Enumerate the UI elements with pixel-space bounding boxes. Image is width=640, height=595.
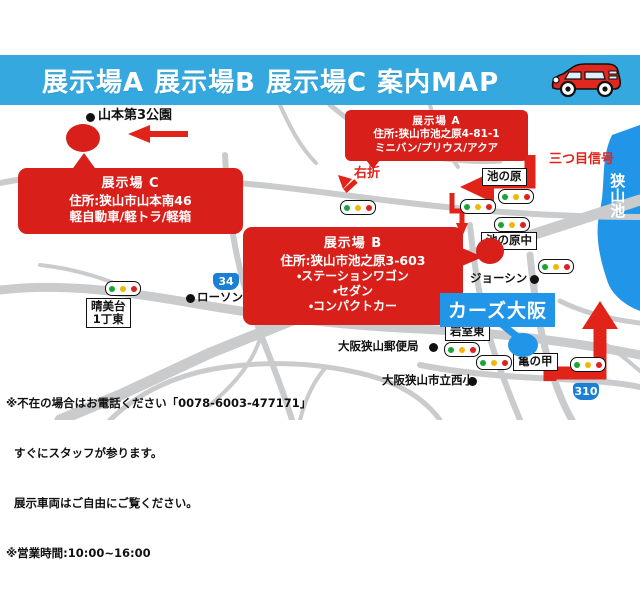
- route-shield-34: 34: [213, 273, 239, 290]
- label-ikenohara: 池の原: [482, 168, 527, 186]
- traffic-signal-ikenohara: [498, 189, 534, 204]
- label-yamamoto-park: 山本第3公園: [98, 109, 172, 124]
- label-harumidai-1chome-higashi: 晴美台 1丁東: [86, 298, 131, 328]
- label-third-signal: 三つ目信号: [549, 153, 614, 168]
- flyer-canvas: 展示場A 展示場B 展示場C 案内MAP: [0, 0, 640, 480]
- callout-a-tail: [362, 155, 384, 169]
- traffic-signal-kamenoko: [570, 357, 606, 372]
- callout-b-item-2: ・セダン: [249, 284, 457, 299]
- shop-map-dot: [508, 333, 538, 357]
- callout-b-title: 展示場 B: [249, 236, 457, 253]
- marker-post-office-dot: [429, 343, 438, 352]
- marker-lawson-dot: [186, 294, 195, 303]
- label-sayama-ike: 狭山池: [608, 173, 625, 218]
- route-shield-310: 310: [573, 383, 599, 400]
- callout-c-title: 展示場 C: [24, 176, 237, 193]
- callout-c-vehicles: 軽自動車/軽トラ/軽箱: [24, 209, 237, 225]
- callout-b-address: 住所:狭山市池之原3-603: [249, 253, 457, 269]
- traffic-signal-ikenohara-naka: [494, 217, 530, 232]
- marker-park-dot: [86, 113, 95, 122]
- callout-c-address: 住所:狭山市山本南46: [24, 193, 237, 209]
- note-line-1: ※不在の場合はお電話ください「0078-6003-477171」: [6, 395, 311, 412]
- shop-name-tag[interactable]: カーズ大阪: [440, 293, 555, 327]
- label-turn-right: 右折: [354, 167, 380, 182]
- callout-a-address: 住所:狭山市池之原4-81-1: [351, 128, 522, 141]
- traffic-signal-post-office: [444, 342, 480, 357]
- callout-c-map-dot: [66, 124, 100, 152]
- traffic-signal-harumidai: [105, 281, 141, 296]
- traffic-signal-turn-right: [340, 200, 376, 215]
- callout-a-title: 展示場 A: [351, 115, 522, 128]
- callout-showroom-a[interactable]: 展示場 A 住所:狭山市池之原4-81-1 ミニバン/プリウス/アクア: [345, 110, 528, 161]
- marker-joshin-dot: [530, 275, 539, 284]
- label-joshin: ジョーシン: [470, 272, 527, 285]
- page-title: 展示場A 展示場B 展示場C 案内MAP: [42, 62, 499, 99]
- callout-b-item-1: ・ステーションワゴン: [249, 269, 457, 284]
- footer-note: ※不在の場合はお電話ください「0078-6003-477171」 すぐにスタッフ…: [6, 362, 311, 595]
- traffic-signal-iwamuro: [476, 355, 512, 370]
- red-car-icon: [543, 58, 629, 102]
- note-line-2: すぐにスタッフが参ります。: [6, 445, 311, 462]
- callout-showroom-c[interactable]: 展示場 C 住所:狭山市山本南46 軽自動車/軽トラ/軽箱: [18, 168, 243, 234]
- callout-a-vehicles: ミニバン/プリウス/アクア: [351, 142, 522, 155]
- label-post-office: 大阪狭山郵便局: [338, 340, 419, 353]
- label-lawson: ローソン: [197, 291, 243, 304]
- label-nishi-elementary: 大阪狭山市立西小: [382, 374, 474, 387]
- callout-showroom-b[interactable]: 展示場 B 住所:狭山市池之原3-603 ・ステーションワゴン ・セダン ・コン…: [243, 227, 463, 325]
- traffic-signal-west: [460, 199, 496, 214]
- traffic-signal-joshin: [538, 259, 574, 274]
- callout-b-item-3: ・コンパクトカー: [249, 299, 457, 314]
- note-line-4: ※営業時間:10:00~16:00: [6, 545, 311, 562]
- note-line-3: 展示車両はご自由にご覧ください。: [6, 495, 311, 512]
